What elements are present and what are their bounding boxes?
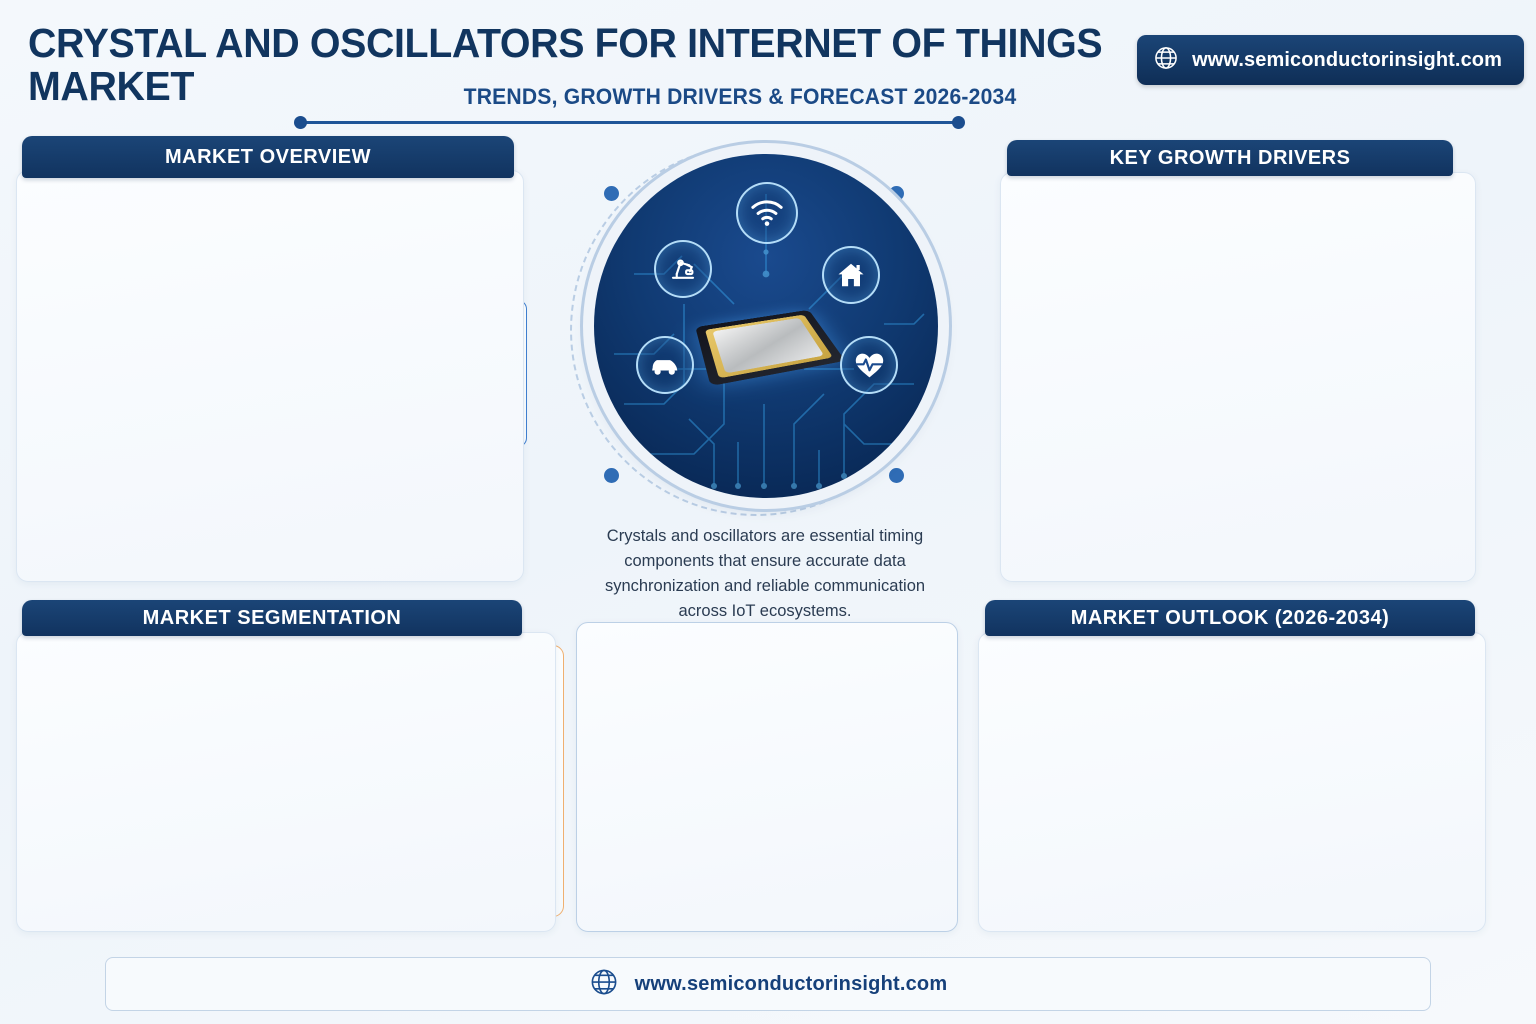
market-outlook-heading: MARKET OUTLOOK (2026-2034) [985, 600, 1475, 636]
page-subtitle: TRENDS, GROWTH DRIVERS & FORECAST 2026-2… [346, 84, 1133, 110]
header-url-badge[interactable]: www.semiconductorinsight.com [1137, 35, 1524, 85]
market-segmentation-panel [16, 632, 556, 932]
footer-url-text: www.semiconductorinsight.com [635, 973, 948, 996]
wifi-icon [736, 182, 798, 244]
hero-illustration [563, 140, 963, 520]
header-divider-dot-right [952, 116, 965, 129]
market-segmentation-heading: MARKET SEGMENTATION [22, 600, 522, 636]
header-divider [300, 121, 958, 124]
growth-drivers-panel [1000, 172, 1476, 582]
header-url-text: www.semiconductorinsight.com [1192, 49, 1502, 72]
emerging-opportunities-panel [576, 622, 958, 932]
market-overview-heading: MARKET OVERVIEW [22, 136, 514, 178]
robot-arm-icon [654, 240, 712, 298]
market-outlook-panel [978, 632, 1486, 932]
header-divider-dot-left [294, 116, 307, 129]
footer-url-bar[interactable]: www.semiconductorinsight.com [105, 957, 1431, 1011]
car-icon [636, 336, 694, 394]
globe-icon [1153, 45, 1179, 76]
growth-drivers-heading: KEY GROWTH DRIVERS [1007, 140, 1453, 176]
infographic-root: CRYSTAL AND OSCILLATORS FOR INTERNET OF … [0, 0, 1536, 1024]
hero-circle [594, 154, 938, 498]
home-icon [822, 246, 880, 304]
globe-icon [589, 967, 619, 1002]
market-overview-panel [16, 170, 524, 582]
heartbeat-icon [840, 336, 898, 394]
hero-caption: Crystals and oscillators are essential t… [580, 524, 950, 624]
